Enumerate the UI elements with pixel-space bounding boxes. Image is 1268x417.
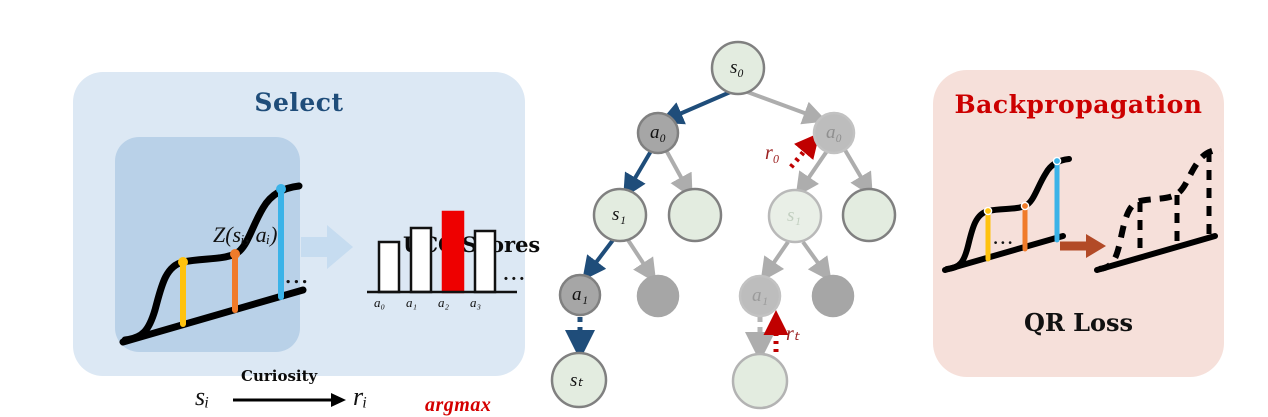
backprop-target-curve: [1093, 132, 1223, 277]
backprop-curve-ellipsis: ...: [993, 230, 1015, 248]
node-label-s0: s₀: [730, 57, 744, 79]
backprop-prediction-curve: [941, 132, 1071, 277]
edge-a0-s1: [628, 151, 651, 190]
node-label-a1-right: a₁: [752, 285, 768, 307]
node-label-s1-left: s₁: [612, 204, 626, 226]
node-s1-left-sibling[interactable]: [669, 189, 721, 241]
pred-dot-mid: [1021, 202, 1028, 209]
pred-dot-low: [984, 207, 991, 214]
node-label-s1-right: s₁: [787, 205, 801, 227]
edge-s0-a0: [668, 90, 735, 119]
node-s1-right-sibling[interactable]: [843, 189, 895, 241]
node-a1-left-sibling[interactable]: [638, 276, 678, 316]
backpropagation-panel-title: Backpropagation: [933, 90, 1224, 119]
node-label-a0-left: a₀: [650, 122, 666, 144]
edge-s1-sibling: [628, 240, 651, 275]
reward-arrow-r0: [791, 142, 812, 167]
edge-s0-a0r: [742, 90, 818, 118]
edge-s1r-sibling: [803, 242, 826, 274]
qr-loss-caption: QR Loss: [933, 308, 1224, 337]
reward-label-r0: r₀: [765, 142, 780, 165]
edge-a0r-sibling: [845, 150, 868, 189]
node-sT-right[interactable]: [733, 354, 787, 408]
edge-a0r-s1r: [801, 151, 827, 189]
node-label-a0-right: a₀: [826, 122, 842, 144]
node-label-sT: sₜ: [570, 369, 583, 392]
edge-s1-a1: [588, 240, 613, 273]
node-label-a1-left: a₁: [572, 284, 588, 306]
pred-dot-high: [1053, 157, 1060, 164]
reward-label-rT: rₜ: [786, 321, 800, 346]
backpropagation-panel: Backpropagation ... QR Loss: [933, 70, 1224, 377]
edge-a0-sibling: [666, 150, 688, 190]
edge-s1r-a1r: [766, 242, 788, 274]
node-a1-right-sibling[interactable]: [813, 276, 853, 316]
figure-canvas: Select ... Z(sᵢ, aᵢ) sᵢ Curiosity rᵢ: [0, 0, 1268, 416]
